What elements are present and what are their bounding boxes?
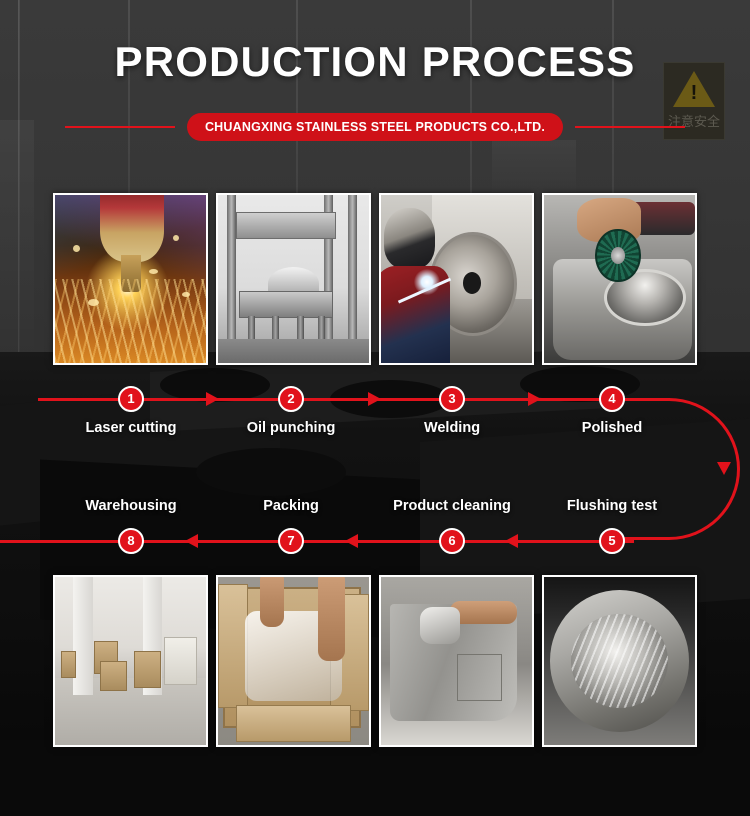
photo-row-bottom [53,575,697,747]
banner-rule-left [65,126,175,128]
flow-arrow-left-icon [185,534,198,548]
step-label-oil-punching: Oil punching [247,420,336,436]
company-banner: CHUANGXING STAINLESS STEEL PRODUCTS CO.,… [0,112,750,142]
step-label-packing: Packing [263,498,319,514]
photo-packing [216,575,371,747]
step-label-warehousing: Warehousing [85,498,176,514]
photo-flushing-test [542,575,697,747]
photo-welding [379,193,534,365]
production-process-poster: 注意安全 PRODUCTION PROCESS CHUANGXING STAIN… [0,0,750,816]
photo-laser-cutting [53,193,208,365]
step-badge-2[interactable]: 2 [278,386,304,412]
photo-warehousing [53,575,208,747]
floor-shadow [0,740,750,816]
flow-arrow-left-icon [345,534,358,548]
flow-arrow-right-icon [206,392,219,406]
wall-panel [492,140,576,198]
step-badge-7[interactable]: 7 [278,528,304,554]
photo-oil-punching [216,193,371,365]
banner-rule-right [575,126,685,128]
flow-arrow-left-icon [505,534,518,548]
step-label-laser-cutting: Laser cutting [85,420,176,436]
photo-product-cleaning [379,575,534,747]
step-badge-1[interactable]: 1 [118,386,144,412]
photo-polished [542,193,697,365]
company-name: CHUANGXING STAINLESS STEEL PRODUCTS CO.,… [187,113,563,141]
flow-arrow-right-icon [368,392,381,406]
step-label-product-cleaning: Product cleaning [393,498,511,514]
page-title: PRODUCTION PROCESS [0,38,750,86]
flow-line-row2 [0,540,634,543]
step-badge-4[interactable]: 4 [599,386,625,412]
step-label-flushing-test: Flushing test [567,498,657,514]
step-label-welding: Welding [424,420,480,436]
wall-panel [0,120,34,372]
process-flow-diagram: 1 2 3 4 8 7 6 5 Laser cutting Oil punchi… [0,370,750,570]
step-label-polished: Polished [582,420,642,436]
step-badge-8[interactable]: 8 [118,528,144,554]
step-badge-3[interactable]: 3 [439,386,465,412]
step-badge-6[interactable]: 6 [439,528,465,554]
photo-row-top [53,193,697,365]
step-badge-5[interactable]: 5 [599,528,625,554]
flow-arrow-right-icon [528,392,541,406]
flow-arrow-down-icon [717,462,731,482]
